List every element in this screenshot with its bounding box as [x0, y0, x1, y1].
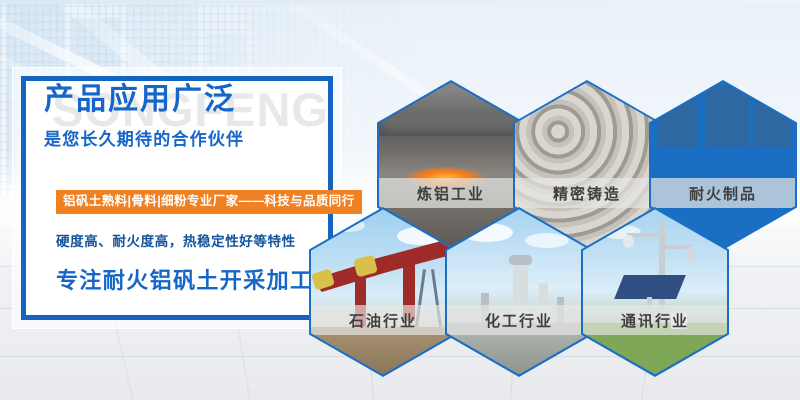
hex-label: 石油行业 — [311, 305, 455, 335]
status-badge: 铝矾土熟料|骨料|细粉专业厂家——科技与品质同行 — [56, 190, 362, 214]
copy-block: 产品应用广泛 是您长久期待的合作伙伴 — [44, 84, 374, 150]
hex-label: 炼铝工业 — [379, 178, 523, 208]
hex-label: 耐火制品 — [651, 178, 795, 208]
background-top-strip — [0, 0, 800, 4]
feature-line: 硬度高、耐火度高，热稳定性好等特性 — [56, 230, 296, 250]
subtitle: 是您长久期待的合作伙伴 — [44, 125, 374, 150]
hex-label: 通讯行业 — [583, 305, 727, 335]
page-title: 产品应用广泛 — [44, 84, 374, 116]
hex-label: 化工行业 — [447, 305, 591, 335]
tagline: 专注耐火铝矾土开采加工 — [56, 263, 313, 295]
banner-stage: SONGFENG 产品应用广泛 是您长久期待的合作伙伴 铝矾土熟料|骨料|细粉专… — [0, 0, 800, 400]
hex-label: 精密铸造 — [515, 178, 659, 208]
